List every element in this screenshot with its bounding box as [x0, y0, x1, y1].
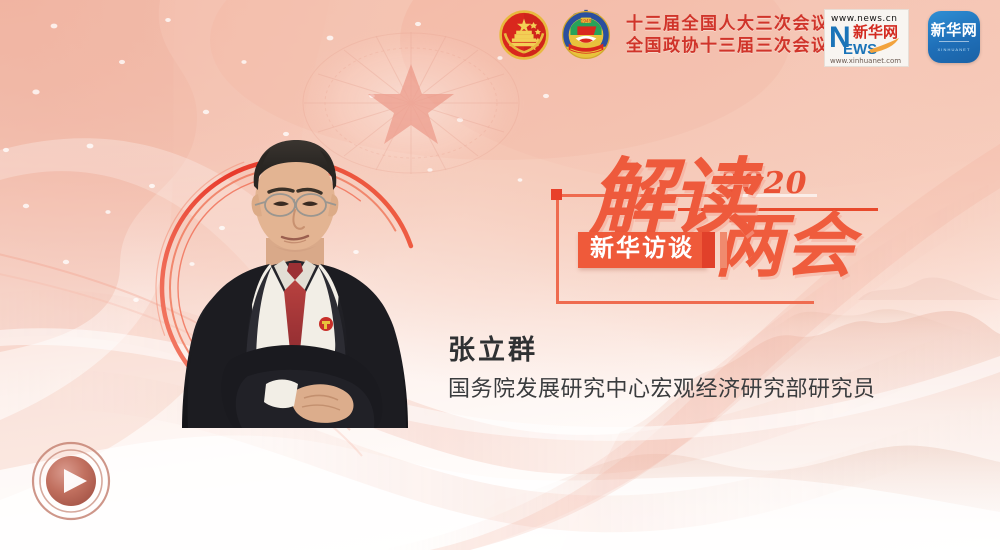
- program-tag-label: 新华访谈: [590, 236, 694, 262]
- newscn-cn-mark: 新华网: [853, 23, 898, 41]
- bracket-corner-dot: [551, 189, 562, 200]
- title-main: 解读: [589, 152, 753, 244]
- svg-text:1949: 1949: [580, 18, 591, 24]
- program-tag: 新华访谈: [578, 232, 706, 268]
- play-button[interactable]: [31, 441, 111, 521]
- app-icon-label: 新华网: [931, 22, 978, 39]
- poster-canvas: 1949 十三届全国人大三次会议 全国政协十三届三次会议 www.news.cn…: [0, 0, 1000, 550]
- guest-name: 张立群: [448, 332, 876, 368]
- conference-line-npc: 十三届全国人大三次会议: [626, 13, 830, 35]
- conference-header: 1949 十三届全国人大三次会议 全国政协十三届三次会议: [498, 4, 830, 66]
- guest-info: 张立群 国务院发展研究中心宏观经济研究部研究员: [448, 332, 876, 404]
- tag-accent-bars: [702, 232, 727, 268]
- accent-bar-2: [720, 232, 727, 268]
- conference-title-block: 十三届全国人大三次会议 全国政协十三届三次会议: [626, 13, 830, 57]
- conference-line-cppcc: 全国政协十三届三次会议: [626, 35, 830, 57]
- newscn-bottom-url: www.xinhuanet.com: [830, 57, 901, 65]
- national-emblem-icon: [498, 9, 550, 61]
- news-cn-logo[interactable]: www.news.cn N 新华网 EWS www.xinhuanet.com: [824, 9, 909, 67]
- app-icon-rule: [939, 41, 969, 42]
- accent-bar-1: [702, 232, 715, 268]
- app-icon-sublabel: XINHUANET: [937, 47, 970, 52]
- xinhua-app-icon[interactable]: 新华网 XINHUANET: [928, 11, 980, 63]
- guest-portrait: [170, 128, 420, 428]
- cppcc-emblem-icon: 1949: [560, 9, 612, 61]
- program-title-lockup: 2020 两会 解读 新华访谈: [556, 158, 876, 308]
- guest-title: 国务院发展研究中心宏观经济研究部研究员: [448, 374, 876, 404]
